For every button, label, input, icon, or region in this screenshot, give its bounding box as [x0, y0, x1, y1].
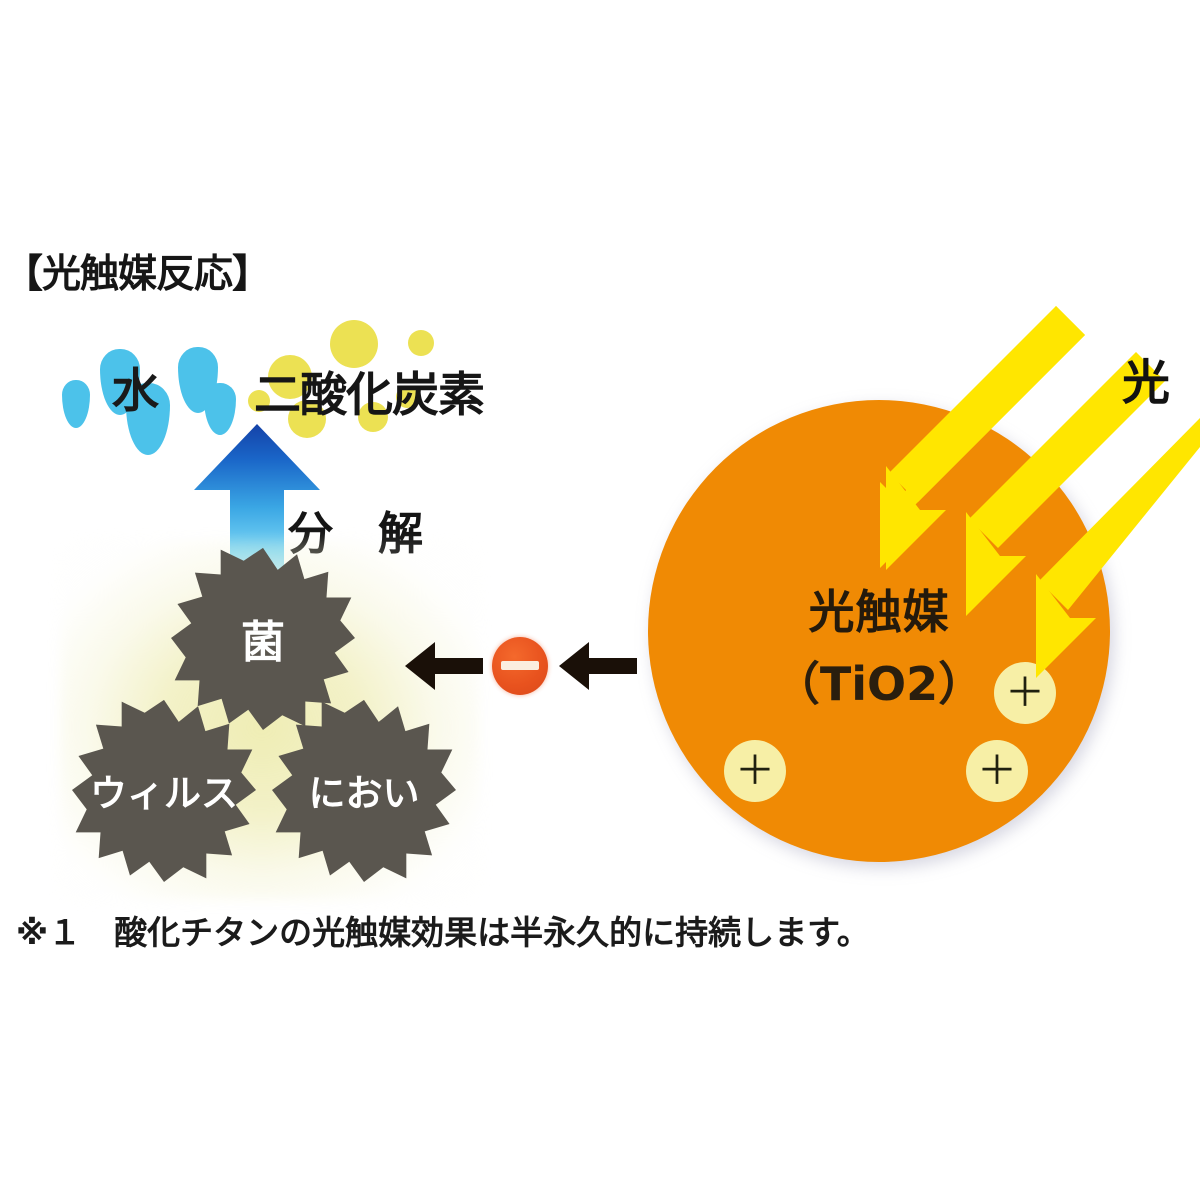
minus-sign-icon [501, 661, 539, 670]
carbon-dioxide-label: 二酸化炭素 [254, 356, 484, 425]
water-label: 水 [112, 352, 159, 421]
page-title: 【光触媒反応】 [4, 243, 270, 299]
hole-charge: ＋ [724, 740, 786, 802]
plus-sign-icon: ＋ [1005, 673, 1045, 713]
photocatalysis-diagram: 【光触媒反応】 水 二酸化炭素 分 解 [0, 0, 1200, 1200]
starburst-odor: におい [272, 698, 456, 882]
co2-particle [408, 330, 434, 356]
footnote-text: ※１ 酸化チタンの光触媒効果は半永久的に持続します。 [16, 906, 870, 954]
water-droplet [62, 380, 90, 428]
catalyst-name-label: 光触媒 [648, 576, 1110, 642]
plus-sign-icon: ＋ [735, 751, 775, 791]
hole-charge: ＋ [966, 740, 1028, 802]
electron-transfer-arrow-right [559, 640, 637, 692]
plus-sign-icon: ＋ [977, 751, 1017, 791]
photocatalyst-particle: 光触媒 （TiO2） ＋ ＋ ＋ [648, 400, 1110, 862]
hole-charge: ＋ [994, 662, 1056, 724]
starburst-virus: ウィルス [72, 698, 256, 882]
electron-particle [492, 637, 548, 695]
electron-transfer-arrow-left [405, 640, 483, 692]
light-label: 光 [1122, 343, 1170, 413]
